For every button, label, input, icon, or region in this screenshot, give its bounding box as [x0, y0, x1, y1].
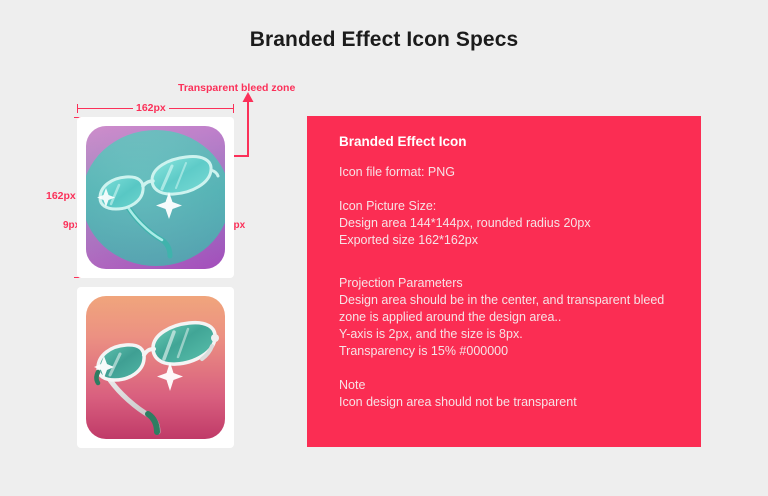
spec-file-format: Icon file format: PNG	[339, 164, 683, 181]
height-dimension-label: 162px	[46, 190, 76, 202]
width-dimension-tick-left	[77, 104, 78, 113]
page-title: Branded Effect Icon Specs	[0, 28, 768, 52]
sunglasses-icon	[86, 296, 225, 439]
width-dimension-label: 162px	[133, 102, 169, 114]
spec-panel: Branded Effect Icon Icon file format: PN…	[307, 116, 701, 447]
icon-art-purple	[86, 126, 225, 269]
spec-panel-heading: Branded Effect Icon	[339, 134, 683, 150]
spec-projection-parameters: Projection Parameters Design area should…	[339, 275, 683, 360]
icon-preview-card-warm[interactable]	[77, 287, 234, 448]
sunglasses-icon	[86, 126, 225, 269]
icon-art-warm	[86, 296, 225, 439]
icon-preview-card-purple[interactable]	[77, 117, 234, 278]
spec-picture-size: Icon Picture Size: Design area 144*144px…	[339, 198, 683, 249]
page-root: Branded Effect Icon Specs Transparent bl…	[0, 0, 768, 496]
spec-note: Note Icon design area should not be tran…	[339, 377, 683, 411]
width-dimension-tick-right	[233, 104, 234, 113]
